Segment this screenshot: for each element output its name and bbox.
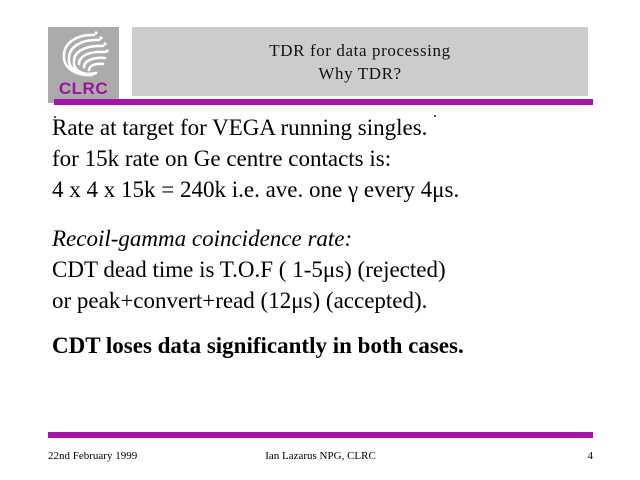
- body-spacer: [52, 316, 612, 330]
- body-line-6: or peak+convert+read (12μs) (accepted).: [52, 285, 612, 316]
- header-divider: [54, 99, 593, 105]
- slide-body: Rate at target for VEGA running singles.…: [52, 112, 612, 361]
- footer-divider: [48, 432, 593, 438]
- title-line-2: Why TDR?: [318, 62, 401, 85]
- presentation-slide: CLRC TDR for data processing Why TDR? Ra…: [0, 0, 640, 480]
- body-spacer: [52, 205, 612, 223]
- footer-date: 22nd February 1999: [48, 447, 137, 465]
- body-line-4: Recoil-gamma coincidence rate:: [52, 223, 612, 254]
- title-line-1: TDR for data processing: [269, 39, 450, 62]
- body-line-3: 4 x 4 x 15k = 240k i.e. ave. one γ every…: [52, 174, 612, 205]
- footer-page-number: 4: [588, 447, 594, 465]
- body-line-5: CDT dead time is T.O.F ( 1-5μs) (rejecte…: [52, 254, 612, 285]
- clrc-logo: CLRC: [48, 27, 119, 103]
- body-line-1: Rate at target for VEGA running singles.: [52, 112, 612, 143]
- slide-title-banner: TDR for data processing Why TDR?: [132, 27, 588, 96]
- swirl-globe-icon: [54, 29, 112, 81]
- clrc-wordmark: CLRC: [48, 80, 119, 97]
- body-line-7: CDT loses data significantly in both cas…: [52, 330, 612, 361]
- body-line-2: for 15k rate on Ge centre contacts is:: [52, 143, 612, 174]
- slide-footer: Ian Lazarus NPG, CLRC 22nd February 1999…: [48, 447, 593, 465]
